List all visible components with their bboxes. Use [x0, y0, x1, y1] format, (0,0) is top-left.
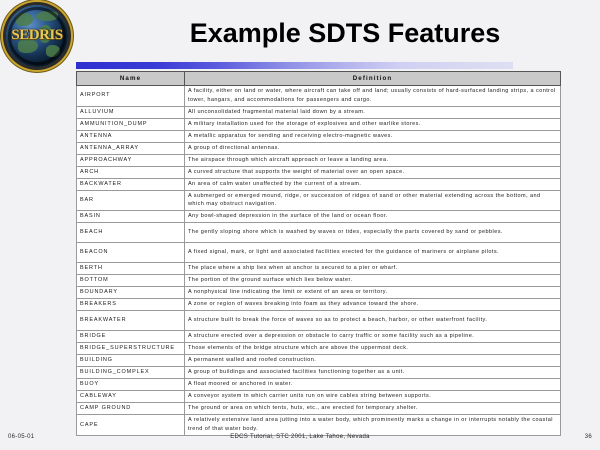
table-row: BERTHThe place where a ship lies when at… [77, 263, 561, 275]
table-row: BEACHThe gently sloping shore which is w… [77, 223, 561, 243]
feature-definition-cell: A fixed signal, mark, or light and assoc… [185, 243, 561, 263]
feature-definition-cell: The airspace through which aircraft appr… [185, 154, 561, 166]
footer-event-label: EDCS Tutorial, STC 2001, Lake Tahoe, Nev… [0, 434, 600, 440]
feature-definition-cell: Any bowl-shaped depression in the surfac… [185, 211, 561, 223]
feature-definition-cell: An area of calm water unaffected by the … [185, 178, 561, 190]
table-row: BASINAny bowl-shaped depression in the s… [77, 211, 561, 223]
logo-wordmark: SEDRIS [6, 27, 68, 44]
feature-name-cell: BOTTOM [77, 275, 185, 287]
table-row: BOTTOMThe portion of the ground surface … [77, 275, 561, 287]
sdts-features-table: Name Definition AIRPORTA facility, eithe… [76, 71, 561, 436]
feature-definition-cell: A group of buildings and associated faci… [185, 367, 561, 379]
table-row: BREAKERSA zone or region of waves breaki… [77, 299, 561, 311]
feature-definition-cell: A submerged or emerged mound, ridge, or … [185, 190, 561, 211]
feature-definition-cell: The ground or area on which tents, huts,… [185, 403, 561, 415]
table-row: BUILDINGA permanent walled and roofed co… [77, 355, 561, 367]
feature-name-cell: ARCH [77, 166, 185, 178]
feature-name-cell: ANTENNA_ARRAY [77, 142, 185, 154]
feature-definition-cell: The gently sloping shore which is washed… [185, 223, 561, 243]
feature-name-cell: CABLEWAY [77, 391, 185, 403]
feature-name-cell: AIRPORT [77, 86, 185, 107]
feature-definition-cell: A facility, either on land or water, whe… [185, 86, 561, 107]
table-row: CAMP GROUNDThe ground or area on which t… [77, 403, 561, 415]
table-row: AMMUNITION_DUMPA military installation u… [77, 118, 561, 130]
feature-definition-cell: A conveyor system in which carrier units… [185, 391, 561, 403]
feature-definition-cell: Those elements of the bridge structure w… [185, 343, 561, 355]
table-row: ARCHA curved structure that supports the… [77, 166, 561, 178]
table-row: BACKWATERAn area of calm water unaffecte… [77, 178, 561, 190]
feature-name-cell: CAMP GROUND [77, 403, 185, 415]
feature-definition-cell: A group of directional antennas. [185, 142, 561, 154]
feature-name-cell: BASIN [77, 211, 185, 223]
table-header-row: Name Definition [77, 72, 561, 86]
table-row: BRIDGE_SUPERSTRUCTUREThose elements of t… [77, 343, 561, 355]
feature-definition-cell: The portion of the ground surface which … [185, 275, 561, 287]
feature-definition-cell: A structure built to break the force of … [185, 311, 561, 331]
table-row: BUILDING_COMPLEXA group of buildings and… [77, 367, 561, 379]
table-row: ALLUVIUMAll unconsolidated fragmental ma… [77, 106, 561, 118]
feature-name-cell: BEACH [77, 223, 185, 243]
feature-name-cell: BERTH [77, 263, 185, 275]
sedris-globe-logo: SEDRIS [6, 5, 68, 67]
feature-definition-cell: A metallic apparatus for sending and rec… [185, 130, 561, 142]
table-row: AIRPORTA facility, either on land or wat… [77, 86, 561, 107]
slide-footer: 06-05-01 EDCS Tutorial, STC 2001, Lake T… [0, 428, 600, 450]
table-row: BOUNDARYA nonphysical line indicating th… [77, 287, 561, 299]
feature-definition-cell: All unconsolidated fragmental material l… [185, 106, 561, 118]
feature-definition-cell: A permanent walled and roofed constructi… [185, 355, 561, 367]
table-row: BEACONA fixed signal, mark, or light and… [77, 243, 561, 263]
feature-name-cell: BUILDING_COMPLEX [77, 367, 185, 379]
feature-definition-cell: A structure erected over a depression or… [185, 331, 561, 343]
feature-name-cell: BRIDGE [77, 331, 185, 343]
table-row: ANTENNAA metallic apparatus for sending … [77, 130, 561, 142]
feature-name-cell: BUILDING [77, 355, 185, 367]
table-row: BREAKWATERA structure built to break the… [77, 311, 561, 331]
feature-definition-cell: A float moored or anchored in water. [185, 379, 561, 391]
feature-name-cell: BUOY [77, 379, 185, 391]
page-title: Example SDTS Features [110, 18, 580, 49]
slide-header: SEDRIS Example SDTS Features [0, 0, 600, 62]
feature-definition-cell: A curved structure that supports the wei… [185, 166, 561, 178]
feature-name-cell: BOUNDARY [77, 287, 185, 299]
table-row: BARA submerged or emerged mound, ridge, … [77, 190, 561, 211]
table-row: CABLEWAYA conveyor system in which carri… [77, 391, 561, 403]
feature-name-cell: APPROACHWAY [77, 154, 185, 166]
feature-name-cell: BEACON [77, 243, 185, 263]
column-header-name: Name [77, 72, 185, 86]
feature-name-cell: ALLUVIUM [77, 106, 185, 118]
table-row: ANTENNA_ARRAYA group of directional ante… [77, 142, 561, 154]
feature-name-cell: ANTENNA [77, 130, 185, 142]
footer-page-number: 36 [585, 434, 592, 440]
feature-definition-cell: A zone or region of waves breaking into … [185, 299, 561, 311]
column-header-definition: Definition [185, 72, 561, 86]
feature-definition-cell: A military installation used for the sto… [185, 118, 561, 130]
feature-name-cell: BACKWATER [77, 178, 185, 190]
table-row: APPROACHWAYThe airspace through which ai… [77, 154, 561, 166]
gradient-divider [76, 62, 513, 69]
feature-name-cell: BAR [77, 190, 185, 211]
feature-definition-cell: The place where a ship lies when at anch… [185, 263, 561, 275]
feature-definition-cell: A nonphysical line indicating the limit … [185, 287, 561, 299]
table-row: BRIDGEA structure erected over a depress… [77, 331, 561, 343]
feature-name-cell: BREAKWATER [77, 311, 185, 331]
feature-name-cell: BRIDGE_SUPERSTRUCTURE [77, 343, 185, 355]
table-row: BUOYA float moored or anchored in water. [77, 379, 561, 391]
feature-name-cell: BREAKERS [77, 299, 185, 311]
feature-name-cell: AMMUNITION_DUMP [77, 118, 185, 130]
